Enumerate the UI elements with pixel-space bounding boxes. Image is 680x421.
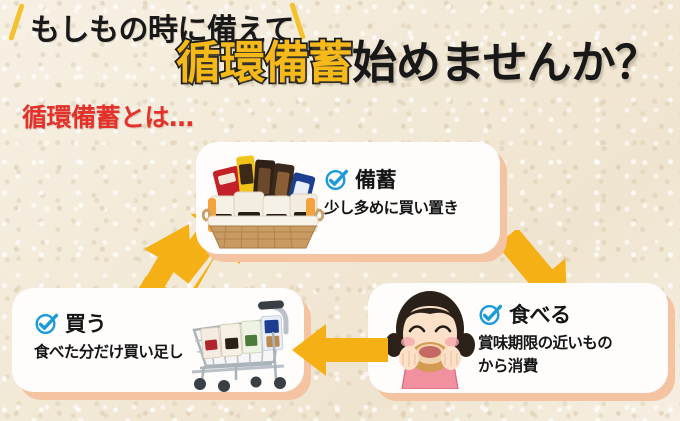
shopping-cart-with-bread-illustration: [180, 288, 302, 392]
headline-line-2: 循環備蓄始めませんか？: [176, 40, 659, 85]
arrow-eat-to-buy-icon: [292, 322, 388, 378]
headline-rest-text: 始めませんか？: [352, 36, 659, 89]
check-circle-icon: [324, 167, 349, 192]
card-buy[interactable]: 買う 食べた分だけ買い足し: [12, 288, 304, 392]
card-buy-description: 食べた分だけ買い足し: [34, 342, 183, 363]
card-buy-title-row: 買う: [34, 308, 183, 338]
card-stockpile-title: 備蓄: [355, 164, 396, 194]
card-eat-title-row: 食べる: [478, 299, 612, 329]
card-stockpile[interactable]: 備蓄 少し多めに買い置き: [196, 142, 500, 254]
card-eat-description-line-1: 賞味期限の近いもの: [478, 333, 612, 354]
card-stockpile-text: 備蓄 少し多めに買い置き: [324, 164, 458, 219]
check-circle-icon: [34, 311, 59, 336]
card-eat-title: 食べる: [509, 299, 571, 329]
check-circle-icon: [478, 302, 503, 327]
card-stockpile-description: 少し多めに買い置き: [324, 198, 458, 219]
poster-canvas: もしもの時に備えて 循環備蓄始めませんか？ 循環備蓄とは…: [0, 0, 680, 421]
card-eat[interactable]: 食べる 賞味期限の近いもの から消費: [368, 283, 668, 393]
card-eat-description-line-2: から消費: [478, 356, 612, 377]
slash-mark-left-icon: [8, 3, 24, 41]
subtitle-text: 循環備蓄とは…: [22, 98, 194, 134]
headline-highlight-text: 循環備蓄: [176, 36, 352, 89]
card-buy-text: 買う 食べた分だけ買い足し: [34, 308, 183, 363]
card-stockpile-title-row: 備蓄: [324, 164, 458, 194]
card-buy-title: 買う: [65, 308, 106, 338]
girl-eating-bread-illustration: [384, 289, 476, 389]
basket-of-bread-stockpile-illustration: [202, 144, 324, 252]
card-eat-text: 食べる 賞味期限の近いもの から消費: [478, 299, 612, 377]
